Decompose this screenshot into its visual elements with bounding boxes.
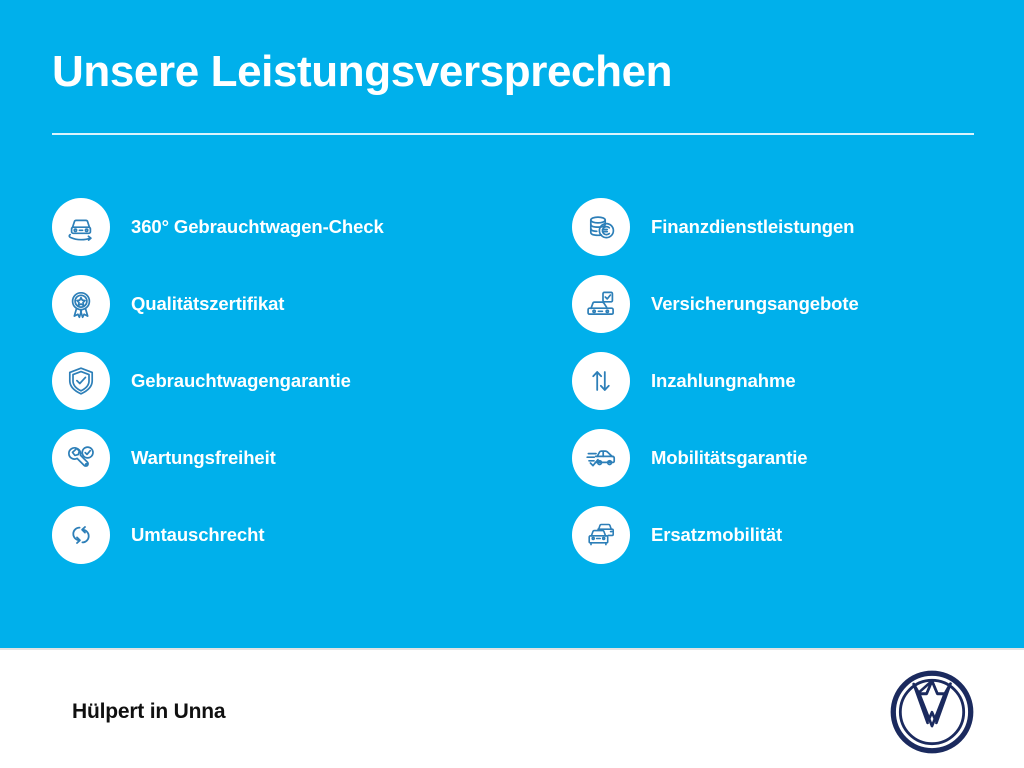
benefit-item[interactable]: 360° Gebrauchtwagen-Check — [52, 198, 522, 256]
wrench-check-icon — [52, 429, 110, 487]
benefit-label: Finanzdienstleistungen — [651, 216, 854, 238]
benefit-label: Ersatzmobilität — [651, 524, 782, 546]
benefit-label: 360° Gebrauchtwagen-Check — [131, 216, 384, 238]
benefit-item[interactable]: Wartungsfreiheit — [52, 429, 522, 487]
benefit-label: Gebrauchtwagengarantie — [131, 370, 351, 392]
footer-bar: Hülpert in Unna — [0, 648, 1024, 768]
benefit-label: Versicherungsangebote — [651, 293, 859, 315]
benefit-item[interactable]: Finanzdienstleistungen — [572, 198, 1012, 256]
benefit-item[interactable]: Inzahlungnahme — [572, 352, 1012, 410]
page-title: Unsere Leistungsversprechen — [52, 48, 672, 96]
benefit-item[interactable]: Mobilitätsgarantie — [572, 429, 1012, 487]
benefit-item[interactable]: Qualitätszertifikat — [52, 275, 522, 333]
volkswagen-logo — [888, 668, 976, 756]
benefit-item[interactable]: Versicherungsangebote — [572, 275, 1012, 333]
two-cars-icon — [572, 506, 630, 564]
benefit-label: Mobilitätsgarantie — [651, 447, 808, 469]
benefit-label: Inzahlungnahme — [651, 370, 796, 392]
benefits-column-right: Finanzdienstleistungen — [572, 198, 1012, 564]
title-divider — [52, 133, 974, 135]
shield-check-icon — [52, 352, 110, 410]
award-rosette-icon — [52, 275, 110, 333]
car-motion-check-icon — [572, 429, 630, 487]
benefit-label: Qualitätszertifikat — [131, 293, 284, 315]
coins-euro-icon — [572, 198, 630, 256]
benefit-label: Wartungsfreiheit — [131, 447, 276, 469]
benefit-item[interactable]: Gebrauchtwagengarantie — [52, 352, 522, 410]
hero-panel: Unsere Leistungsversprechen — [0, 0, 1024, 648]
car-360-check-icon — [52, 198, 110, 256]
exchange-arrows-icon — [52, 506, 110, 564]
slide-root: Unsere Leistungsversprechen — [0, 0, 1024, 768]
benefit-item[interactable]: Umtauschrecht — [52, 506, 522, 564]
dealer-name: Hülpert in Unna — [72, 700, 225, 724]
benefits-column-left: 360° Gebrauchtwagen-Check Qualitätszert — [52, 198, 522, 564]
car-checkbox-icon — [572, 275, 630, 333]
benefit-item[interactable]: Ersatzmobilität — [572, 506, 1012, 564]
benefit-label: Umtauschrecht — [131, 524, 264, 546]
up-down-arrows-icon — [572, 352, 630, 410]
